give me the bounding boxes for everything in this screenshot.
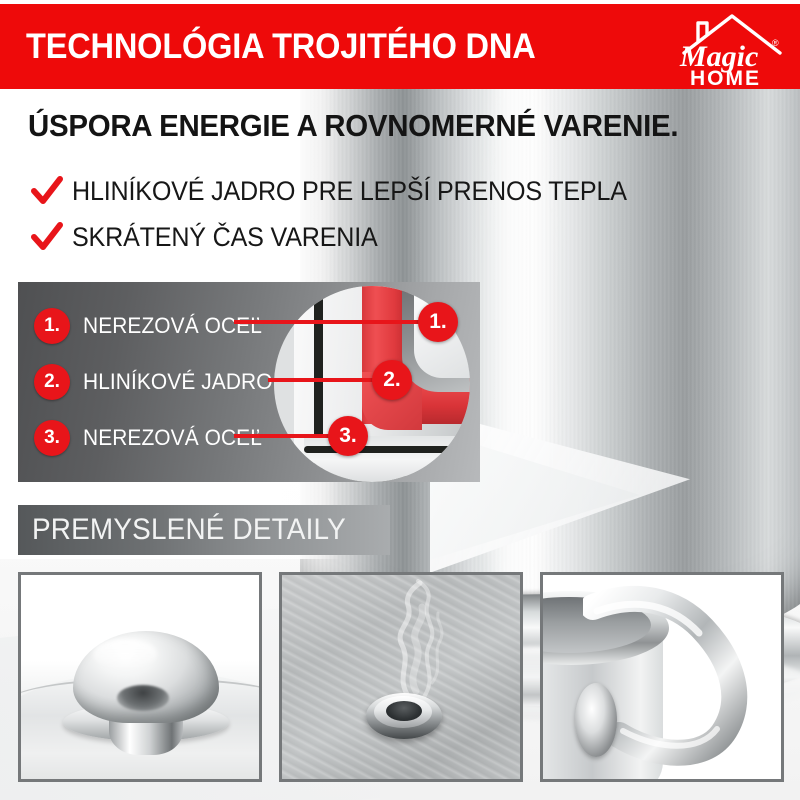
layer-label: NEREZOVÁ OCEĽ xyxy=(83,425,262,451)
details-banner: PREMYSLENÉ DETAILY xyxy=(18,505,390,555)
details-banner-title: PREMYSLENÉ DETAILY xyxy=(32,513,346,547)
benefit-item: HLINÍKOVÉ JADRO PRE LEPŠÍ PRENOS TEPLA xyxy=(30,168,669,214)
layer-label: NEREZOVÁ OCEĽ xyxy=(83,313,262,339)
detail-photo-row xyxy=(18,572,784,782)
page-title: TECHNOLÓGIA TROJITÉHO DNA xyxy=(26,27,536,67)
svg-text:HOME: HOME xyxy=(690,67,761,88)
base-dark-seam xyxy=(304,446,470,453)
layer-number-badge: 1. xyxy=(34,308,70,344)
callout-badge-3: 3. xyxy=(328,416,368,456)
svg-text:®: ® xyxy=(772,38,779,48)
check-icon xyxy=(30,174,64,208)
benefit-label: SKRÁTENÝ ČAS VARENIA xyxy=(72,222,378,253)
layer-number-badge: 3. xyxy=(34,420,70,456)
steam-vent-photo xyxy=(279,572,523,782)
header-band: TECHNOLÓGIA TROJITÉHO DNA Magic ® HOME xyxy=(0,4,800,89)
knob-reflection xyxy=(117,685,169,711)
steam-icon xyxy=(340,579,490,703)
lid-knob-photo xyxy=(18,572,262,782)
magic-home-logo: Magic ® HOME xyxy=(668,6,786,88)
callout-badge-2: 2. xyxy=(372,360,412,400)
pot-specular-highlight xyxy=(477,10,560,650)
handle-shape xyxy=(583,585,781,775)
pot-handle-photo xyxy=(540,572,784,782)
main-headline: ÚSPORA ENERGIE A ROVNOMERNÉ VARENIE. xyxy=(28,108,678,144)
leader-line-2 xyxy=(268,378,386,382)
check-icon xyxy=(30,220,64,254)
benefit-list: HLINÍKOVÉ JADRO PRE LEPŠÍ PRENOS TEPLA S… xyxy=(30,168,669,260)
benefit-label: HLINÍKOVÉ JADRO PRE LEPŠÍ PRENOS TEPLA xyxy=(72,176,627,207)
callout-badge-1: 1. xyxy=(418,302,458,342)
layer-number-badge: 2. xyxy=(34,364,70,400)
knob-highlight xyxy=(93,639,157,669)
leader-line-1 xyxy=(234,320,432,324)
handle-rivet xyxy=(575,683,617,757)
layer-label: HLINÍKOVÉ JADRO xyxy=(83,369,273,395)
benefit-item: SKRÁTENÝ ČAS VARENIA xyxy=(30,214,669,260)
product-infographic: TECHNOLÓGIA TROJITÉHO DNA Magic ® HOME Ú… xyxy=(0,0,800,800)
vent-hole xyxy=(386,701,422,721)
